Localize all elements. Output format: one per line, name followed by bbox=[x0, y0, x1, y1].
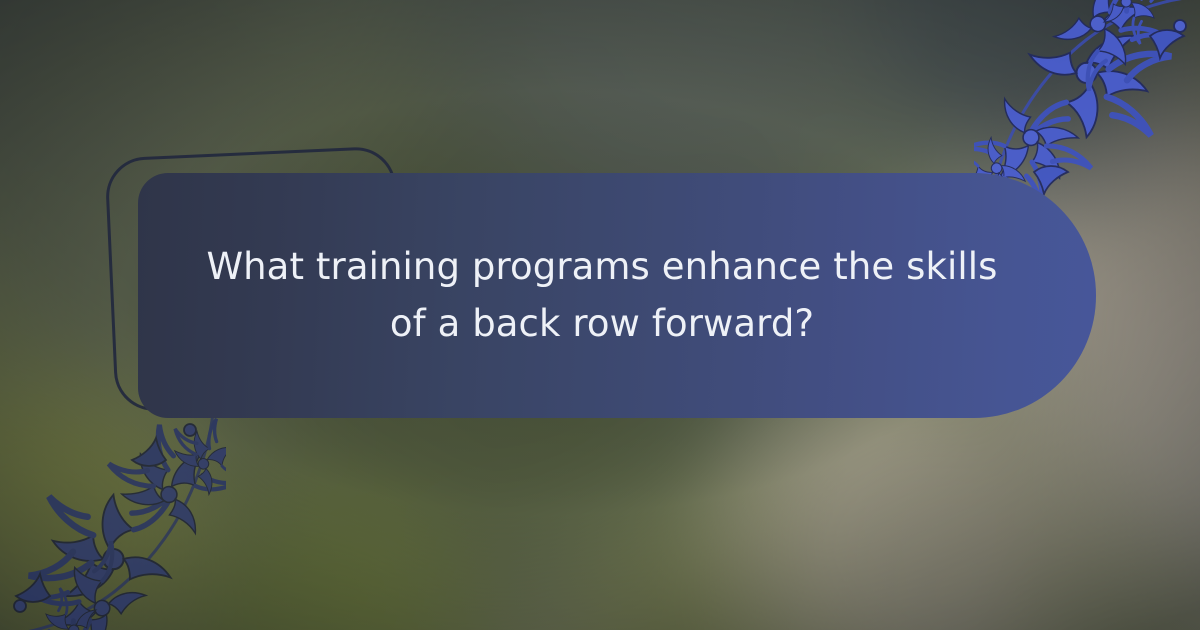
quote-card: What training programs enhance the skill… bbox=[138, 173, 1096, 418]
promo-card-canvas: What training programs enhance the skill… bbox=[0, 0, 1200, 630]
quote-text: What training programs enhance the skill… bbox=[202, 239, 1002, 352]
